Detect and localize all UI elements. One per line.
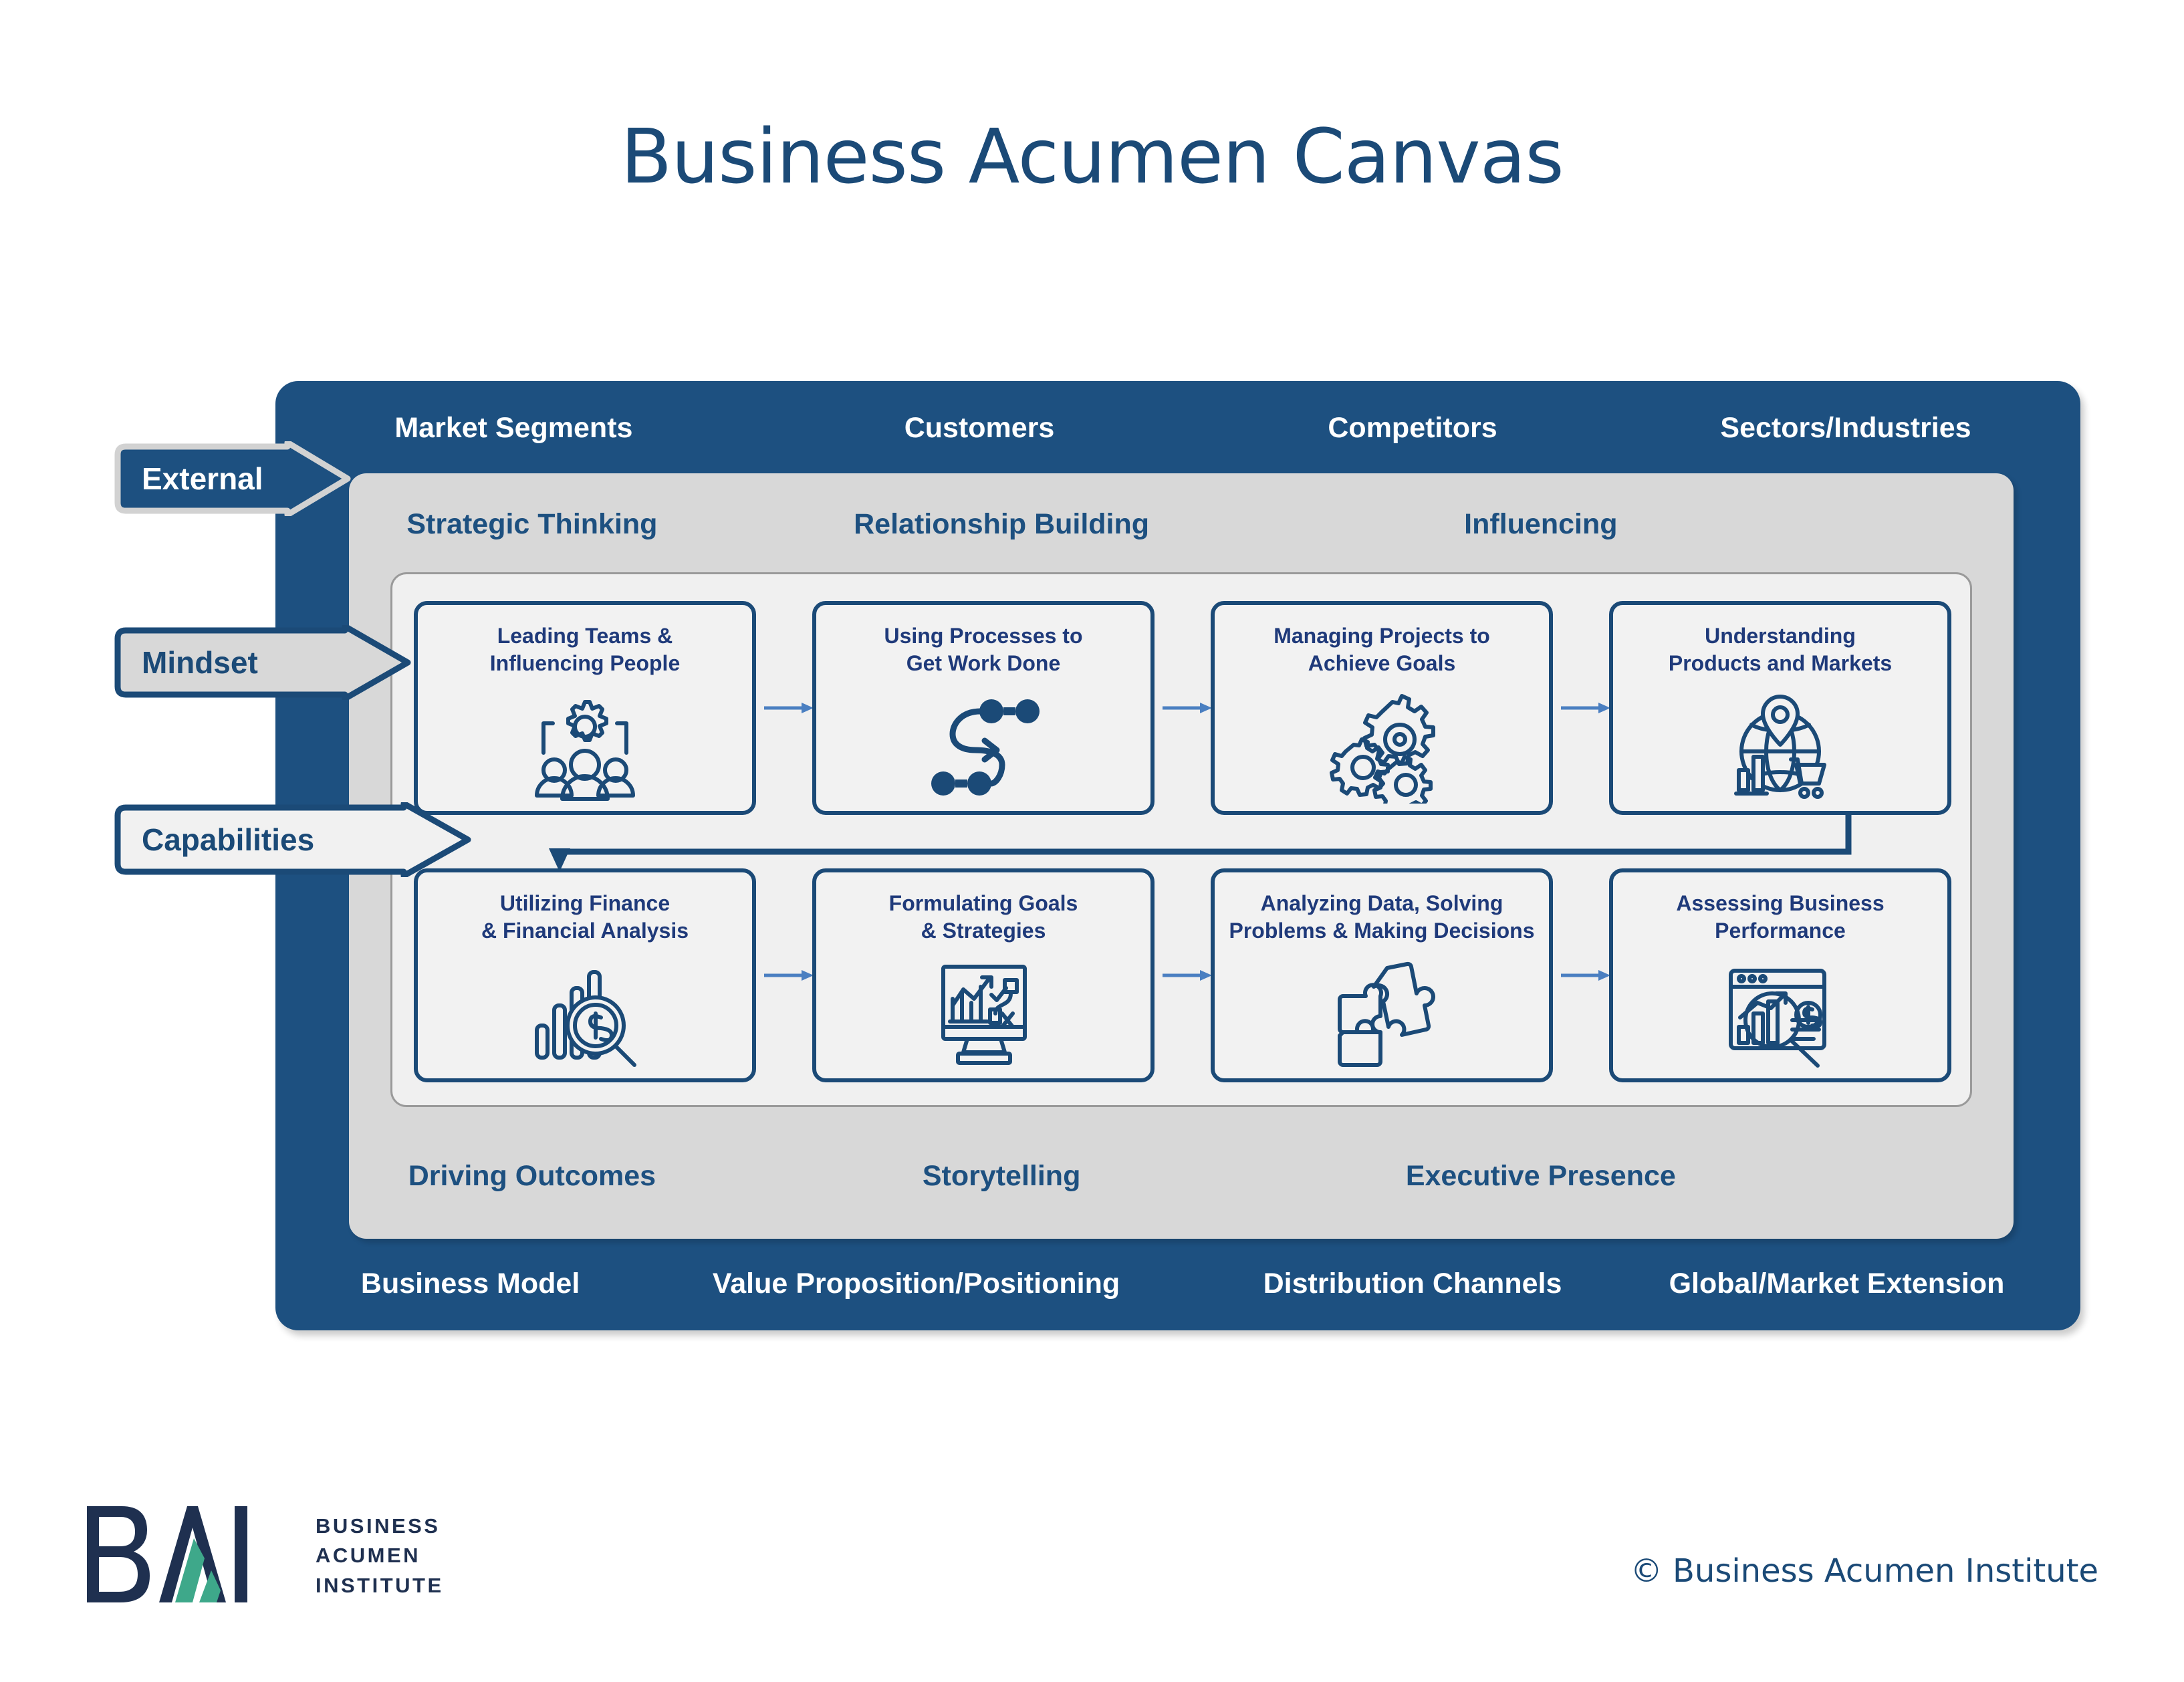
external-top-label-1: Customers	[904, 412, 1055, 445]
finance-magnifier-icon	[525, 950, 645, 1078]
external-top-label-3: Sectors/Industries	[1720, 412, 1971, 445]
mindset-top-label-0: Strategic Thinking	[406, 508, 657, 541]
card-flow-arrow	[1561, 700, 1612, 716]
capability-card-title: Understanding Products and Markets	[1613, 622, 1947, 677]
page-title: Business Acumen Canvas	[0, 114, 2184, 201]
capability-card[interactable]: Leading Teams & Influencing People	[414, 601, 756, 815]
external-bottom-label-2: Distribution Channels	[1263, 1268, 1562, 1300]
mindset-bottom-labels: Driving OutcomesStorytellingExecutive Pr…	[349, 1160, 2014, 1207]
capability-card[interactable]: Utilizing Finance & Financial Analysis	[414, 868, 756, 1082]
capability-card-row-2: Utilizing Finance & Financial Analysis F…	[414, 868, 1951, 1082]
capability-card-title: Utilizing Finance & Financial Analysis	[418, 890, 752, 945]
callout-external-label: External	[142, 461, 263, 497]
capability-card[interactable]: Understanding Products and Markets	[1609, 601, 1951, 815]
capability-card-title: Analyzing Data, Solving Problems & Makin…	[1215, 890, 1549, 945]
capability-card[interactable]: Using Processes to Get Work Done	[812, 601, 1155, 815]
team-gear-icon	[525, 683, 645, 811]
gears-icon	[1322, 683, 1442, 811]
dashboard-magnifier-icon	[1720, 950, 1840, 1078]
flow-arrow-icon	[1561, 700, 1612, 716]
capability-card[interactable]: Assessing Business Performance	[1609, 868, 1951, 1082]
mindset-top-label-2: Influencing	[1464, 508, 1617, 541]
monitor-strategy-icon	[923, 950, 1044, 1078]
callout-external[interactable]: External	[112, 441, 353, 516]
flow-arrow-icon	[764, 700, 815, 716]
capability-card[interactable]: Managing Projects to Achieve Goals	[1211, 601, 1553, 815]
callout-capabilities-label: Capabilities	[142, 822, 314, 858]
external-top-label-0: Market Segments	[394, 412, 632, 445]
external-bottom-label-1: Value Proposition/Positioning	[713, 1268, 1120, 1300]
mindset-bottom-label-0: Driving Outcomes	[408, 1160, 656, 1193]
external-top-label-2: Competitors	[1328, 412, 1497, 445]
card-flow-arrow	[1163, 700, 1213, 716]
bai-logo-wordmark: BUSINESS ACUMEN INSTITUTE	[316, 1512, 444, 1600]
bai-logo: BUSINESS ACUMEN INSTITUTE	[80, 1501, 444, 1611]
card-flow-arrow	[764, 967, 815, 983]
callout-capabilities[interactable]: Capabilities	[112, 802, 473, 877]
capability-card-title: Using Processes to Get Work Done	[816, 622, 1150, 677]
callout-mindset-label: Mindset	[142, 644, 258, 681]
logo-line-acumen: ACUMEN	[316, 1541, 444, 1570]
bai-logomark-icon	[80, 1501, 301, 1611]
flow-arrow-icon	[1163, 700, 1213, 716]
capability-card[interactable]: Formulating Goals & Strategies	[812, 868, 1155, 1082]
card-flow-arrow	[1561, 967, 1612, 983]
external-top-labels: Market SegmentsCustomersCompetitorsSecto…	[275, 401, 2080, 455]
flow-arrow-icon	[1163, 967, 1213, 983]
external-layer-panel: Market SegmentsCustomersCompetitorsSecto…	[275, 381, 2080, 1330]
globe-market-icon	[1720, 683, 1840, 811]
capability-card-title: Leading Teams & Influencing People	[418, 622, 752, 677]
mindset-top-label-1: Relationship Building	[854, 508, 1149, 541]
logo-line-business: BUSINESS	[316, 1512, 444, 1541]
logo-line-institute: INSTITUTE	[316, 1571, 444, 1600]
capability-card-title: Assessing Business Performance	[1613, 890, 1947, 945]
capability-card[interactable]: Analyzing Data, Solving Problems & Makin…	[1211, 868, 1553, 1082]
capability-card-title: Formulating Goals & Strategies	[816, 890, 1150, 945]
external-bottom-label-0: Business Model	[361, 1268, 580, 1300]
mindset-layer-panel: Strategic ThinkingRelationship BuildingI…	[349, 473, 2014, 1239]
mindset-top-labels: Strategic ThinkingRelationship BuildingI…	[349, 508, 2014, 555]
card-flow-arrow	[764, 700, 815, 716]
external-bottom-label-3: Global/Market Extension	[1669, 1268, 2005, 1300]
copyright-notice: © Business Acumen Institute	[1630, 1552, 2098, 1590]
external-bottom-labels: Business ModelValue Proposition/Position…	[275, 1257, 2080, 1310]
callout-mindset[interactable]: Mindset	[112, 625, 413, 700]
mindset-bottom-label-2: Executive Presence	[1406, 1160, 1676, 1193]
puzzle-icon	[1322, 950, 1442, 1078]
card-flow-arrow	[1163, 967, 1213, 983]
flow-arrow-icon	[764, 967, 815, 983]
canvas-page: Business Acumen Canvas Market SegmentsCu…	[0, 0, 2184, 1682]
capabilities-layer-panel: Leading Teams & Influencing People Using…	[390, 572, 1972, 1107]
process-flow-icon	[923, 683, 1044, 811]
flow-arrow-icon	[1561, 967, 1612, 983]
capability-card-row-1: Leading Teams & Influencing People Using…	[414, 601, 1951, 815]
mindset-bottom-label-1: Storytelling	[923, 1160, 1081, 1193]
capability-card-title: Managing Projects to Achieve Goals	[1215, 622, 1549, 677]
